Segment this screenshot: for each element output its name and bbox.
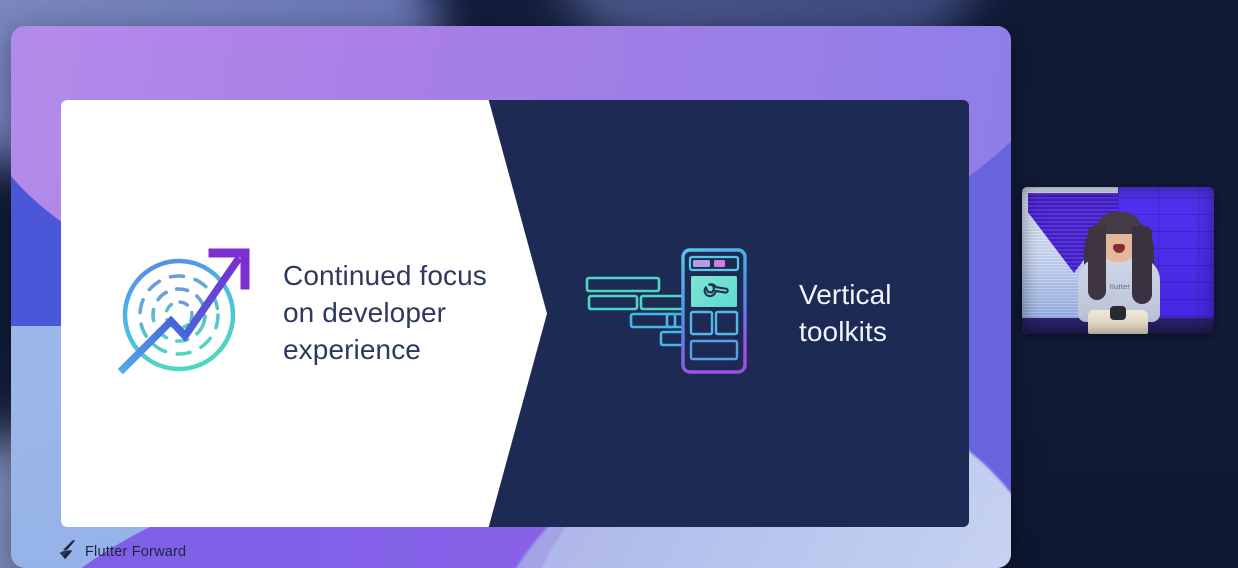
flutter-logo-icon <box>59 540 76 564</box>
speaker-person: flutter <box>1076 206 1162 334</box>
brand-name: Flutter Forward <box>85 544 186 560</box>
speaker-shirt-text: flutter <box>1096 284 1144 291</box>
speaker-presenter-remote <box>1110 306 1126 320</box>
panel-right: Vertical toolkits <box>583 100 892 527</box>
speaker-video-overlay[interactable]: flutter <box>1022 187 1214 334</box>
panel-left-text: Continued focus on developer experience <box>283 258 487 368</box>
vertical-toolkit-phone-icon <box>583 246 773 381</box>
brand-footer: Flutter Forward <box>59 540 186 564</box>
presentation-slide: Continued focus on developer experience <box>11 26 1011 568</box>
screen-capture: Continued focus on developer experience <box>0 0 1238 568</box>
panel-left: Continued focus on developer experience <box>109 100 487 527</box>
speaker-hair-right <box>1132 226 1152 304</box>
panel-right-text: Vertical toolkits <box>799 277 892 350</box>
background-speck <box>815 20 820 25</box>
growth-chart-arrow-icon <box>109 241 257 386</box>
slide-content-card: Continued focus on developer experience <box>61 100 969 527</box>
